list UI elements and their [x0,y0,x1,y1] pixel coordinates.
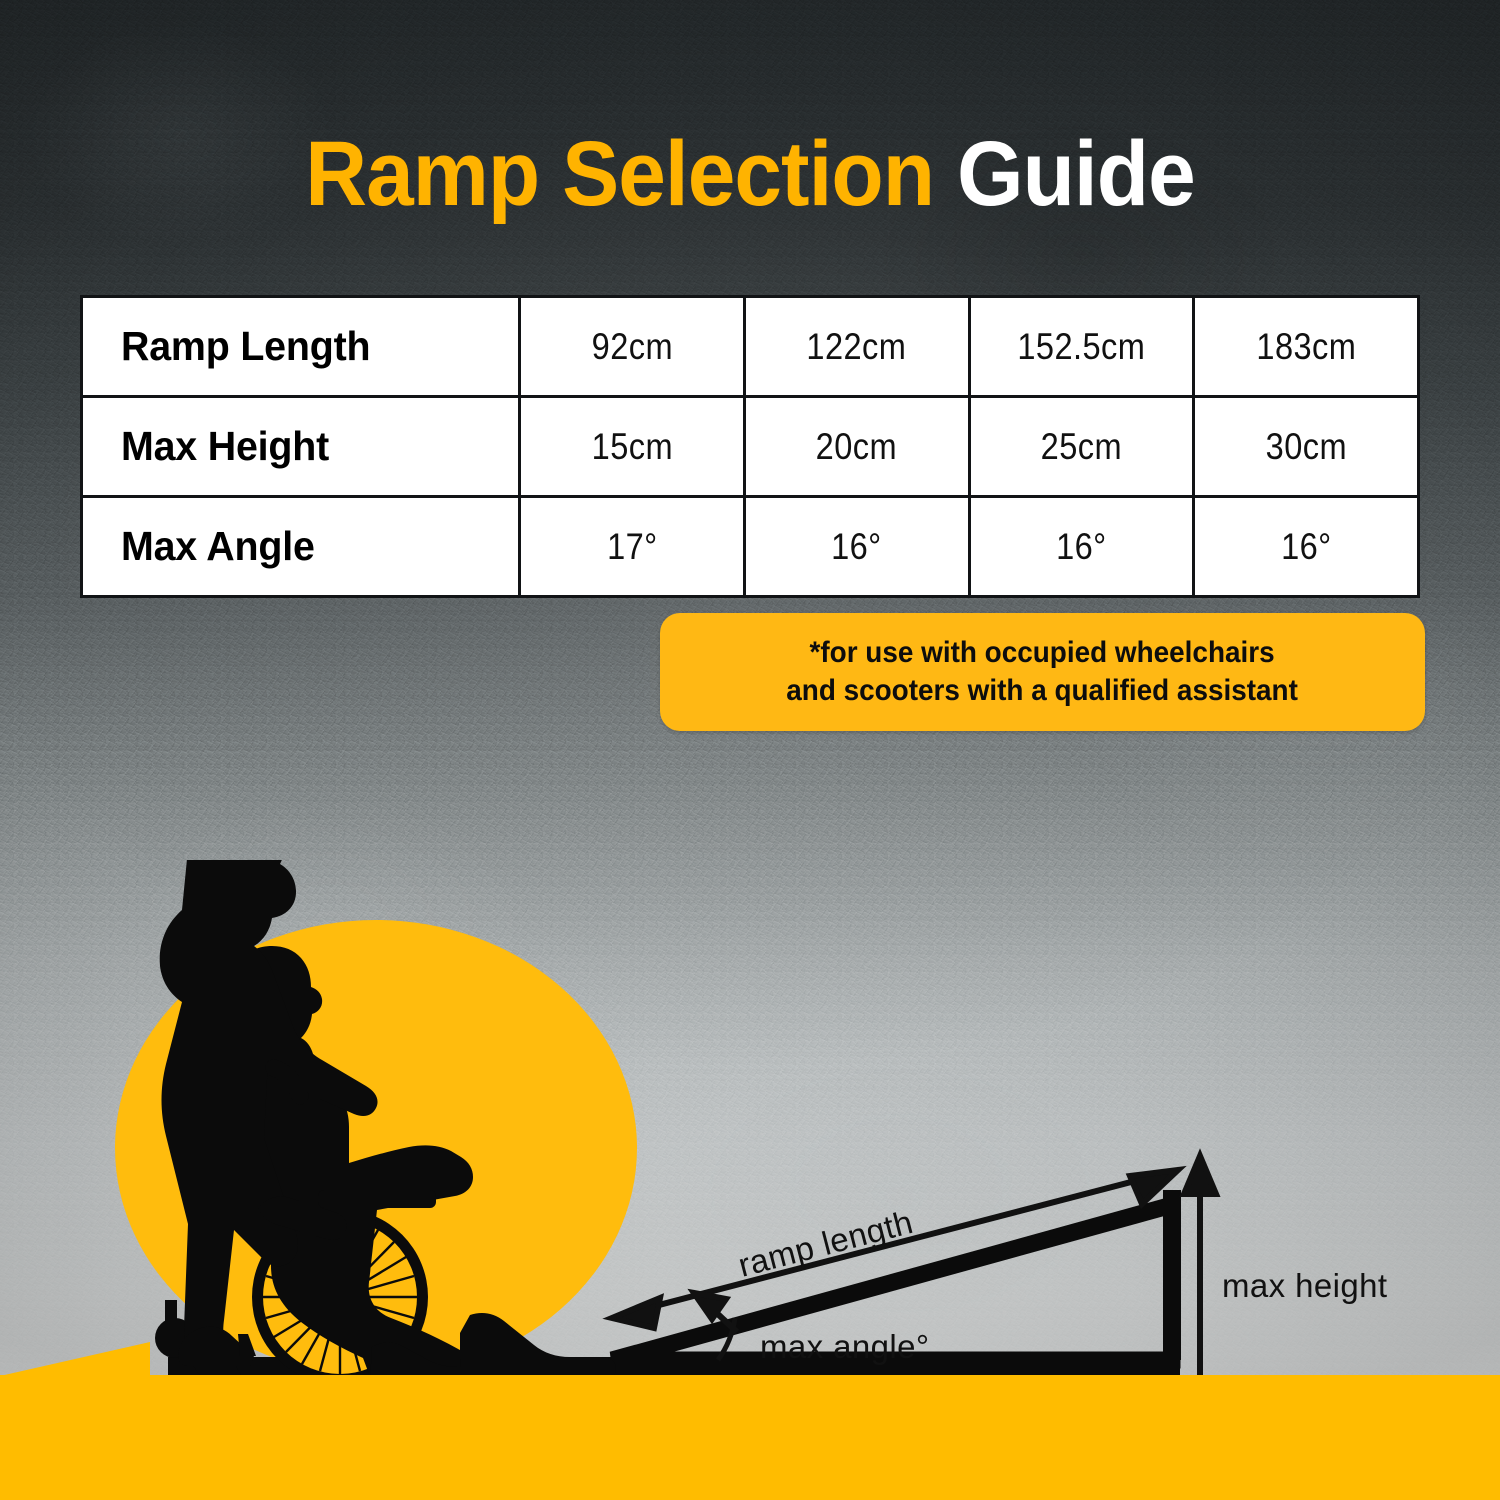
cell-max-angle-1: 17° [533,497,731,597]
max-height-label: max height [1222,1267,1387,1304]
cell-ramp-length-4: 183cm [1207,297,1405,397]
row-label-ramp-length: Ramp Length [90,297,510,397]
cell-max-angle-3: 16° [982,497,1180,597]
cell-max-angle-2: 16° [758,497,956,597]
table-row: Max Angle 17° 16° 16° 16° [82,497,1419,597]
poster-canvas: Ramp Selection Guide Ramp Length 92cm 12… [0,0,1500,1500]
cell-ramp-length-3: 152.5cm [982,297,1180,397]
cell-max-height-2: 20cm [758,397,956,497]
ramp-length-dimension [612,1170,1178,1328]
cell-max-height-1: 15cm [533,397,731,497]
footnote-text: *for use with occupied wheelchairs and s… [787,634,1299,711]
bottom-accent-bar [0,1375,1500,1500]
cell-max-angle-4: 16° [1207,497,1405,597]
wheelchair-armrest [318,1190,436,1208]
page-title: Ramp Selection Guide [53,128,1448,220]
ramp-spec-table: Ramp Length 92cm 122cm 152.5cm 183cm Max… [80,295,1420,598]
max-angle-label: max angle° [760,1328,929,1365]
max-height-dimension [1184,1156,1216,1375]
footnote-line-2: and scooters with a qualified assistant [787,672,1299,710]
cell-max-height-4: 30cm [1207,397,1405,497]
cell-ramp-length-1: 92cm [533,297,731,397]
footnote-badge: *for use with occupied wheelchairs and s… [660,613,1425,731]
cell-max-height-3: 25cm [982,397,1180,497]
title-accent-text: Ramp Selection [305,123,934,225]
table-row: Max Height 15cm 20cm 25cm 30cm [82,397,1419,497]
cell-ramp-length-2: 122cm [758,297,956,397]
wheelchair-back-post [300,1086,320,1236]
table-row: Ramp Length 92cm 122cm 152.5cm 183cm [82,297,1419,397]
ramp-length-label: ramp length [734,1203,916,1284]
row-label-max-height: Max Height [90,397,510,497]
footnote-line-1: *for use with occupied wheelchairs [787,634,1299,672]
ramp-wedge-top-cap [1163,1190,1181,1360]
ramp-illustration: ramp length max angle° max height [0,860,1500,1390]
row-label-max-angle: Max Angle [90,497,510,597]
title-plain-text: Guide [957,123,1195,225]
